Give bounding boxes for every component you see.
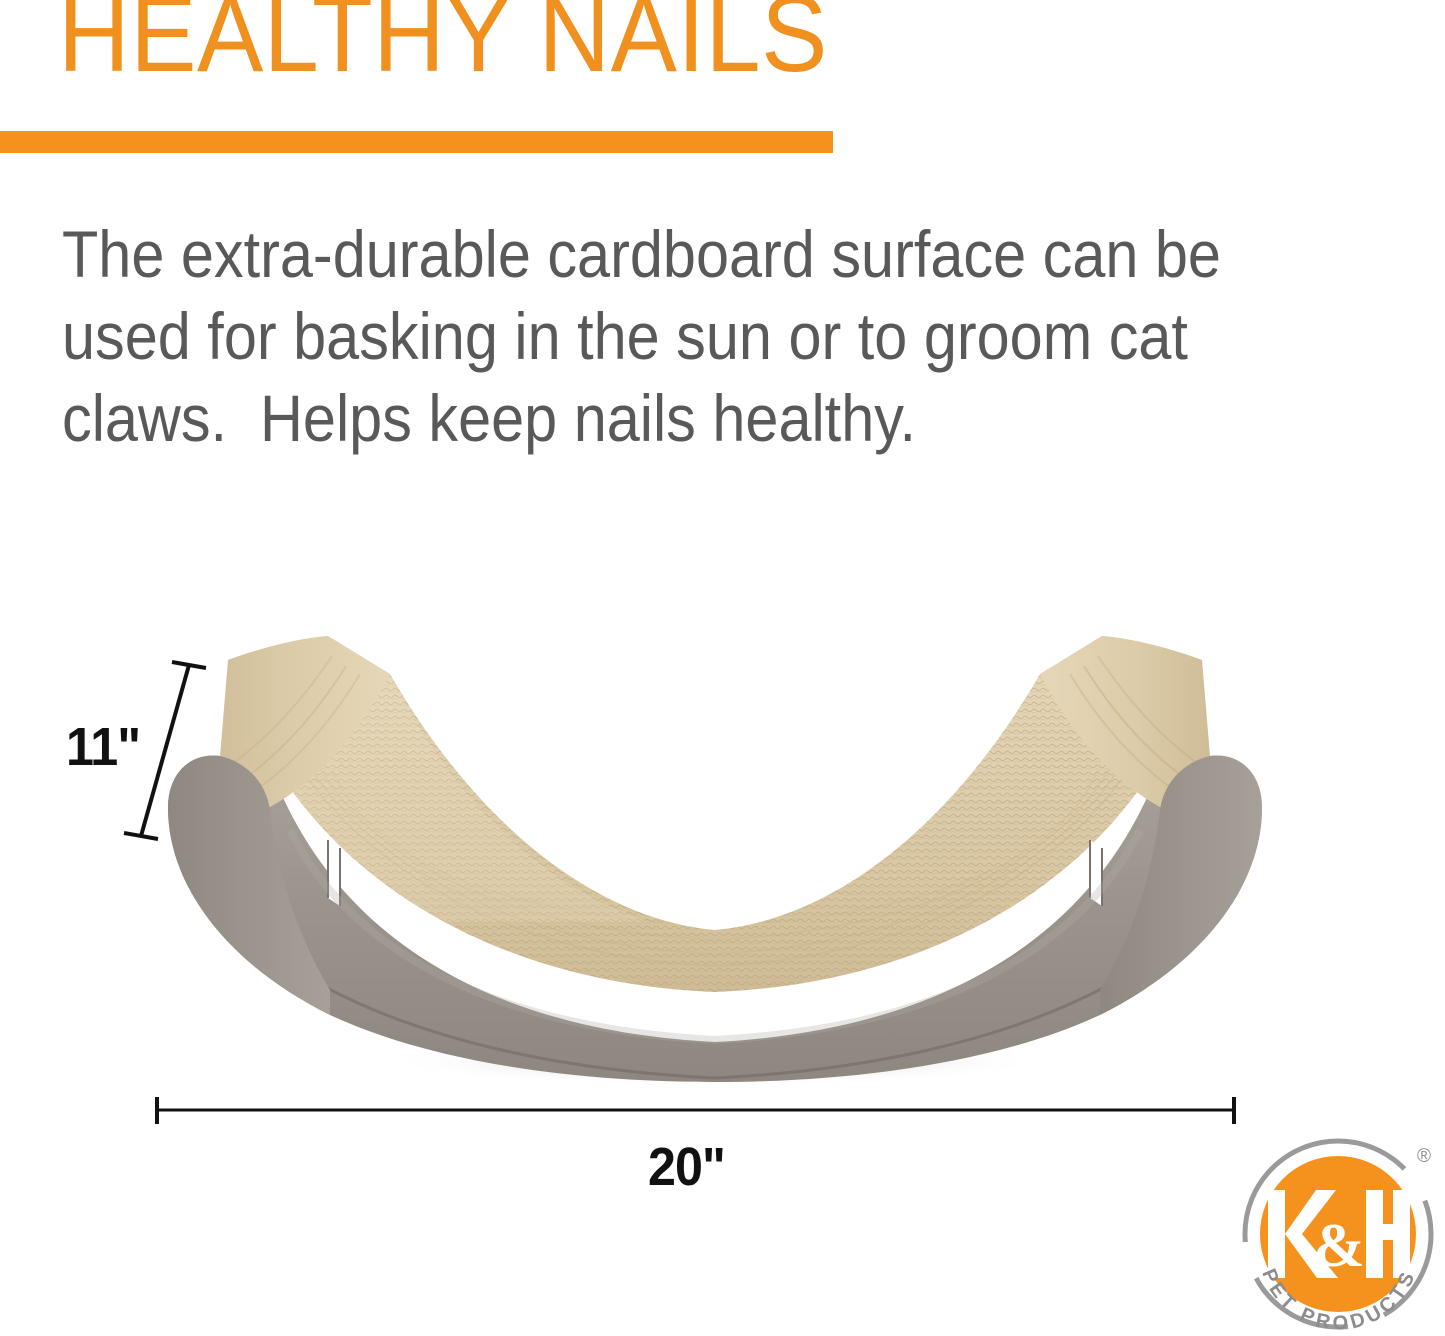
product-illustration [150, 630, 1280, 1090]
svg-text:&: & [1313, 1212, 1365, 1280]
trademark-symbol: ® [1417, 1146, 1431, 1167]
width-dimension-line [157, 1097, 1234, 1124]
description-text: The extra-durable cardboard surface can … [62, 213, 1268, 459]
height-dimension-label: 11" [66, 716, 140, 778]
brand-logo: & ® PET PRODUCTS [1238, 1134, 1440, 1336]
product-image [150, 630, 1280, 1090]
title-underline-bar [0, 131, 833, 153]
infographic-page: HEALTHY NAILS The extra-durable cardboar… [0, 0, 1445, 1336]
width-dimension-label: 20" [648, 1136, 725, 1198]
kh-pet-products-logo: & ® PET PRODUCTS [1238, 1134, 1440, 1336]
page-title: HEALTHY NAILS [58, 0, 828, 88]
